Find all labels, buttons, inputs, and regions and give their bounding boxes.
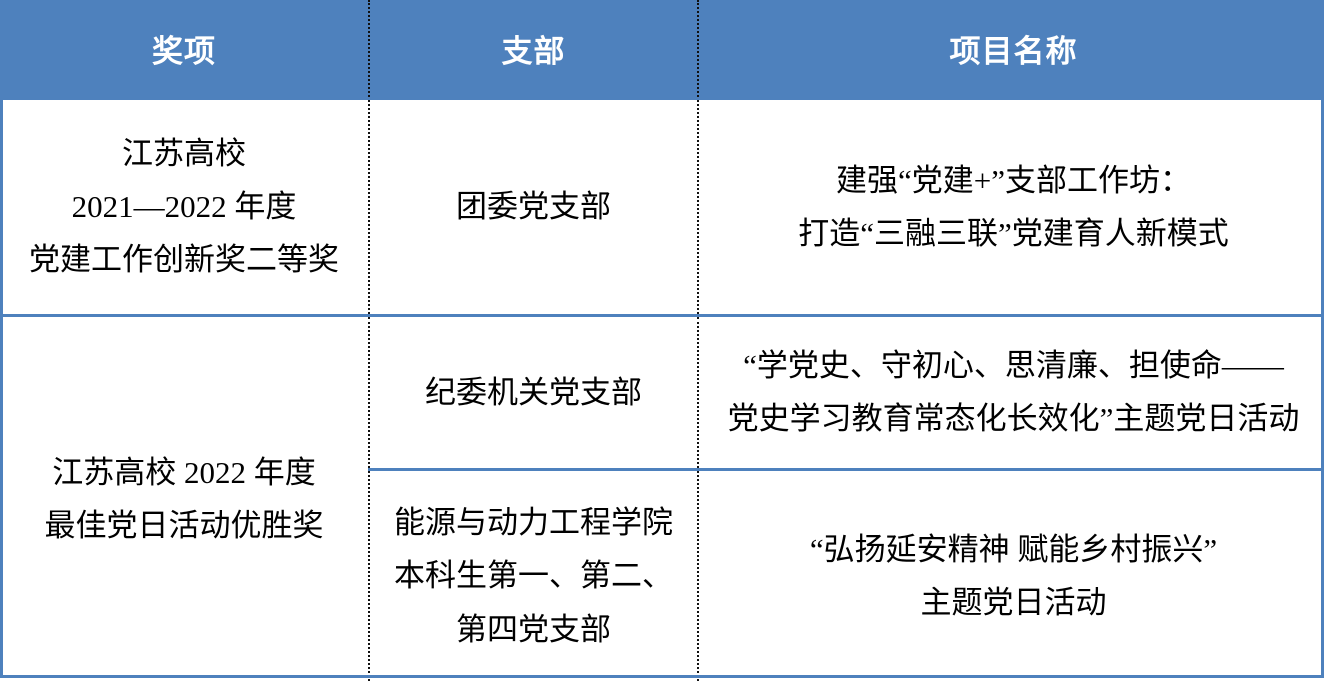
cell-line: 2021—2022 年度	[10, 180, 358, 233]
cell-project: “学党史、守初心、思清廉、担使命—— 党史学习教育常态化长效化”主题党日活动	[698, 315, 1324, 469]
cell-branch: 团委党支部	[369, 99, 698, 316]
cell-line: 党史学习教育常态化长效化”主题党日活动	[709, 392, 1318, 445]
cell-project: 建强“党建+”支部工作坊： 打造“三融三联”党建育人新模式	[698, 99, 1324, 316]
cell-line: 本科生第一、第二、	[380, 549, 687, 602]
table-row: 江苏高校 2022 年度 最佳党日活动优胜奖 纪委机关党支部 “学党史、守初心、…	[0, 315, 1324, 469]
cell-line: 最佳党日活动优胜奖	[10, 499, 358, 552]
table-body: 江苏高校 2021—2022 年度 党建工作创新奖二等奖 团委党支部 建强“党建…	[0, 99, 1324, 681]
cell-award: 江苏高校 2021—2022 年度 党建工作创新奖二等奖	[0, 99, 369, 316]
cell-line: 第四党支部	[380, 603, 687, 656]
column-header-project: 项目名称	[698, 0, 1324, 99]
cell-line: “学党史、守初心、思清廉、担使命——	[709, 339, 1318, 392]
cell-line: 建强“党建+”支部工作坊：	[709, 154, 1318, 207]
cell-award-merged: 江苏高校 2022 年度 最佳党日活动优胜奖	[0, 315, 369, 681]
column-header-branch: 支部	[369, 0, 698, 99]
cell-line: 打造“三融三联”党建育人新模式	[709, 207, 1318, 260]
cell-line: 主题党日活动	[709, 576, 1318, 629]
awards-table: 奖项 支部 项目名称 江苏高校 2021—2022 年度 党建工作创新奖二等奖 …	[0, 0, 1324, 681]
header-row: 奖项 支部 项目名称	[0, 0, 1324, 99]
cell-line: 团委党支部	[380, 180, 687, 233]
cell-branch: 纪委机关党支部	[369, 315, 698, 469]
cell-line: 纪委机关党支部	[380, 366, 687, 419]
cell-line: 党建工作创新奖二等奖	[10, 233, 358, 286]
table-wrapper: 奖项 支部 项目名称 江苏高校 2021—2022 年度 党建工作创新奖二等奖 …	[0, 0, 1324, 681]
table-header: 奖项 支部 项目名称	[0, 0, 1324, 99]
column-header-award: 奖项	[0, 0, 369, 99]
cell-line: 能源与动力工程学院	[380, 496, 687, 549]
table-row: 江苏高校 2021—2022 年度 党建工作创新奖二等奖 团委党支部 建强“党建…	[0, 99, 1324, 316]
cell-branch: 能源与动力工程学院 本科生第一、第二、 第四党支部	[369, 469, 698, 681]
cell-line: “弘扬延安精神 赋能乡村振兴”	[709, 523, 1318, 576]
cell-project: “弘扬延安精神 赋能乡村振兴” 主题党日活动	[698, 469, 1324, 681]
cell-line: 江苏高校	[10, 127, 358, 180]
cell-line: 江苏高校 2022 年度	[10, 446, 358, 499]
